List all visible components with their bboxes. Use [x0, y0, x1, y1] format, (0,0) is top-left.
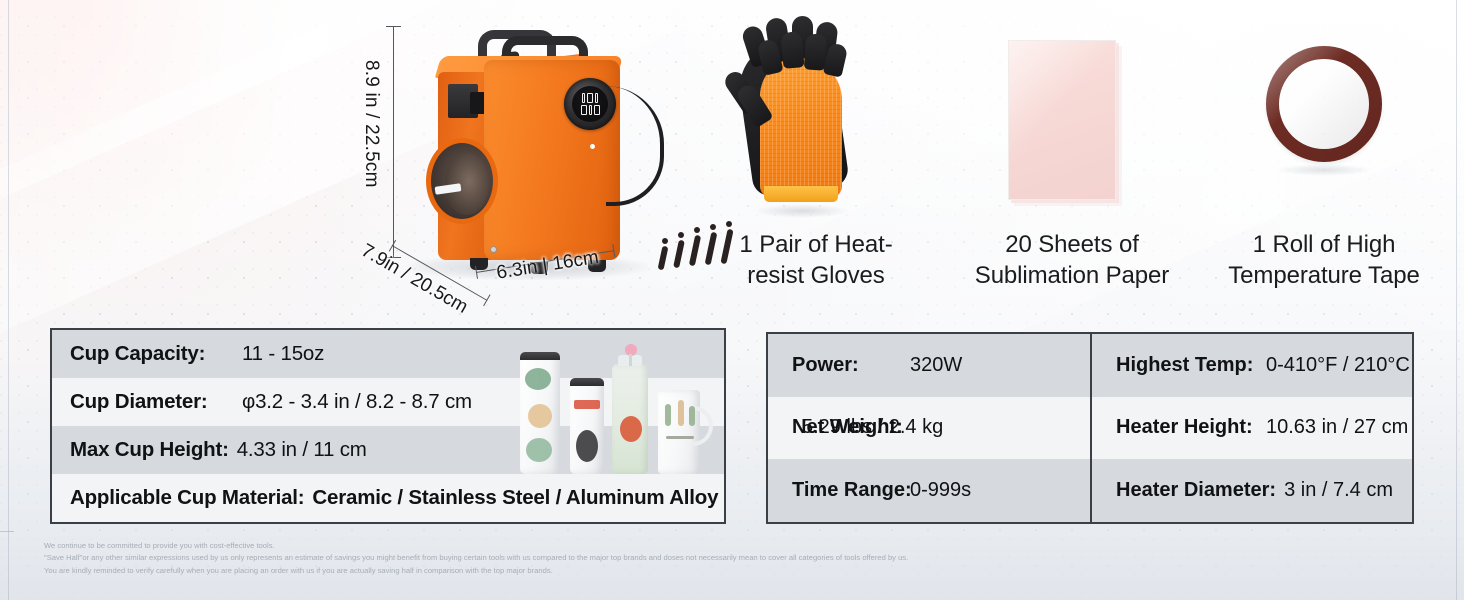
paper-caption-line1: 20 Sheets of	[972, 230, 1172, 261]
cup-specification-table: Cup Capacity: 11 - 15oz Cup Diameter: φ3…	[50, 328, 726, 524]
paper-highlight	[1009, 41, 1115, 199]
time-range-value: 0-999s	[910, 479, 971, 502]
spec-column-right: Highest Temp: 0-410°F / 210°C Heater Hei…	[1090, 334, 1412, 522]
net-weight-value: 5.29 lbs / 2.4 kg	[802, 416, 943, 439]
table-row: Time Range: 0-999s	[768, 459, 1090, 522]
glove-front-palm	[760, 58, 842, 198]
tape-ring	[1266, 46, 1382, 162]
display-segment	[589, 105, 592, 115]
tape-caption-line2: Temperature Tape	[1224, 261, 1424, 292]
machine-indicator-light	[590, 144, 595, 149]
fineprint-line-1: We continue to be committed to provide y…	[44, 540, 1124, 552]
gloves-image	[716, 18, 916, 230]
legal-fineprint: We continue to be committed to provide y…	[44, 540, 1124, 577]
height-dimension-label: 8.9 in / 22.5cm	[360, 60, 382, 188]
tape-caption-line1: 1 Roll of High	[1224, 230, 1424, 261]
glove-cuff	[764, 186, 838, 202]
machine-heating-drum	[426, 138, 498, 224]
cup-diameter-value: φ3.2 - 3.4 in / 8.2 - 8.7 cm	[242, 390, 472, 414]
display-digits-row	[582, 93, 598, 103]
spec-column-left: Power: 320W Net Weight: 5.29 lbs / 2.4 k…	[768, 334, 1090, 522]
sublimation-paper-image	[972, 18, 1172, 230]
cup-diameter-label: Cup Diameter:	[70, 390, 242, 414]
table-row: Cup Capacity: 11 - 15oz	[52, 330, 724, 378]
display-segment	[594, 105, 600, 115]
table-row: Cup Diameter: φ3.2 - 3.4 in / 8.2 - 8.7 …	[52, 378, 724, 426]
cup-capacity-label: Cup Capacity:	[70, 342, 242, 366]
table-row: Heater Diameter: 3 in / 7.4 cm	[1092, 459, 1412, 522]
fineprint-line-2: "Save Half"or any other similar expressi…	[44, 552, 1124, 564]
time-range-label: Time Range:	[792, 479, 910, 502]
display-segment	[581, 105, 587, 115]
power-value: 320W	[910, 354, 962, 377]
max-cup-height-label: Max Cup Height:	[70, 438, 229, 462]
accessory-high-temperature-tape: 1 Roll of High Temperature Tape	[1224, 18, 1424, 291]
frame-tick	[0, 531, 14, 532]
gloves-caption: 1 Pair of Heat- resist Gloves	[716, 230, 916, 291]
gloves-caption-line2: resist Gloves	[716, 261, 916, 292]
product-infographic: 8.9 in / 22.5cm 7.9in / 20.5cm 6.3in | 1…	[0, 0, 1464, 600]
paper-caption-line2: Sublimation Paper	[972, 261, 1172, 292]
machine-display-bezel	[564, 78, 616, 130]
highest-temp-value: 0-410°F / 210°C	[1266, 354, 1410, 377]
machine-digital-display	[572, 86, 608, 122]
heater-height-value: 10.63 in / 27 cm	[1266, 416, 1408, 439]
accessory-sublimation-paper: 20 Sheets of Sublimation Paper	[972, 18, 1172, 291]
table-row: Applicable Cup Material: Ceramic / Stain…	[52, 474, 724, 522]
gloves-shadow	[754, 204, 850, 218]
table-row: Power: 320W	[768, 334, 1090, 397]
machine-specification-table: Power: 320W Net Weight: 5.29 lbs / 2.4 k…	[766, 332, 1414, 524]
fineprint-line-3: You are kindly reminded to verify carefu…	[44, 565, 1124, 577]
table-row: Heater Height: 10.63 in / 27 cm	[1092, 397, 1412, 460]
display-segment	[587, 93, 593, 103]
spec-grid: Power: 320W Net Weight: 5.29 lbs / 2.4 k…	[768, 334, 1412, 522]
table-row: Net Weight: 5.29 lbs / 2.4 kg	[768, 397, 1090, 460]
display-segment	[582, 93, 585, 103]
cup-material-label: Applicable Cup Material:	[70, 486, 304, 510]
gloves-caption-line1: 1 Pair of Heat-	[716, 230, 916, 261]
highest-temp-label: Highest Temp:	[1116, 354, 1266, 377]
frame-right-rule	[1456, 0, 1457, 600]
max-cup-height-value: 4.33 in / 11 cm	[237, 438, 367, 462]
heater-diameter-value: 3 in / 7.4 cm	[1284, 479, 1393, 502]
paper-caption: 20 Sheets of Sublimation Paper	[972, 230, 1172, 291]
power-label: Power:	[792, 354, 910, 377]
heater-diameter-label: Heater Diameter:	[1116, 479, 1276, 502]
table-row: Max Cup Height: 4.33 in / 11 cm	[52, 426, 724, 474]
cup-material-value: Ceramic / Stainless Steel / Aluminum All…	[312, 486, 718, 510]
heater-height-label: Heater Height:	[1116, 416, 1266, 439]
tape-caption: 1 Roll of High Temperature Tape	[1224, 230, 1424, 291]
frame-left-rule	[8, 0, 9, 600]
tape-roll-image	[1224, 18, 1424, 230]
height-dimension-line	[393, 26, 394, 258]
accessory-gloves: 1 Pair of Heat- resist Gloves	[716, 18, 916, 291]
machine-screw	[490, 246, 497, 253]
table-row: Highest Temp: 0-410°F / 210°C	[1092, 334, 1412, 397]
tape-shadow	[1276, 164, 1372, 176]
glove-fingertip	[780, 31, 804, 69]
paper-stack	[1008, 40, 1116, 200]
display-segment	[595, 93, 598, 103]
cup-capacity-value: 11 - 15oz	[242, 342, 324, 366]
display-digits-row	[581, 105, 600, 115]
machine-foot	[470, 258, 488, 270]
